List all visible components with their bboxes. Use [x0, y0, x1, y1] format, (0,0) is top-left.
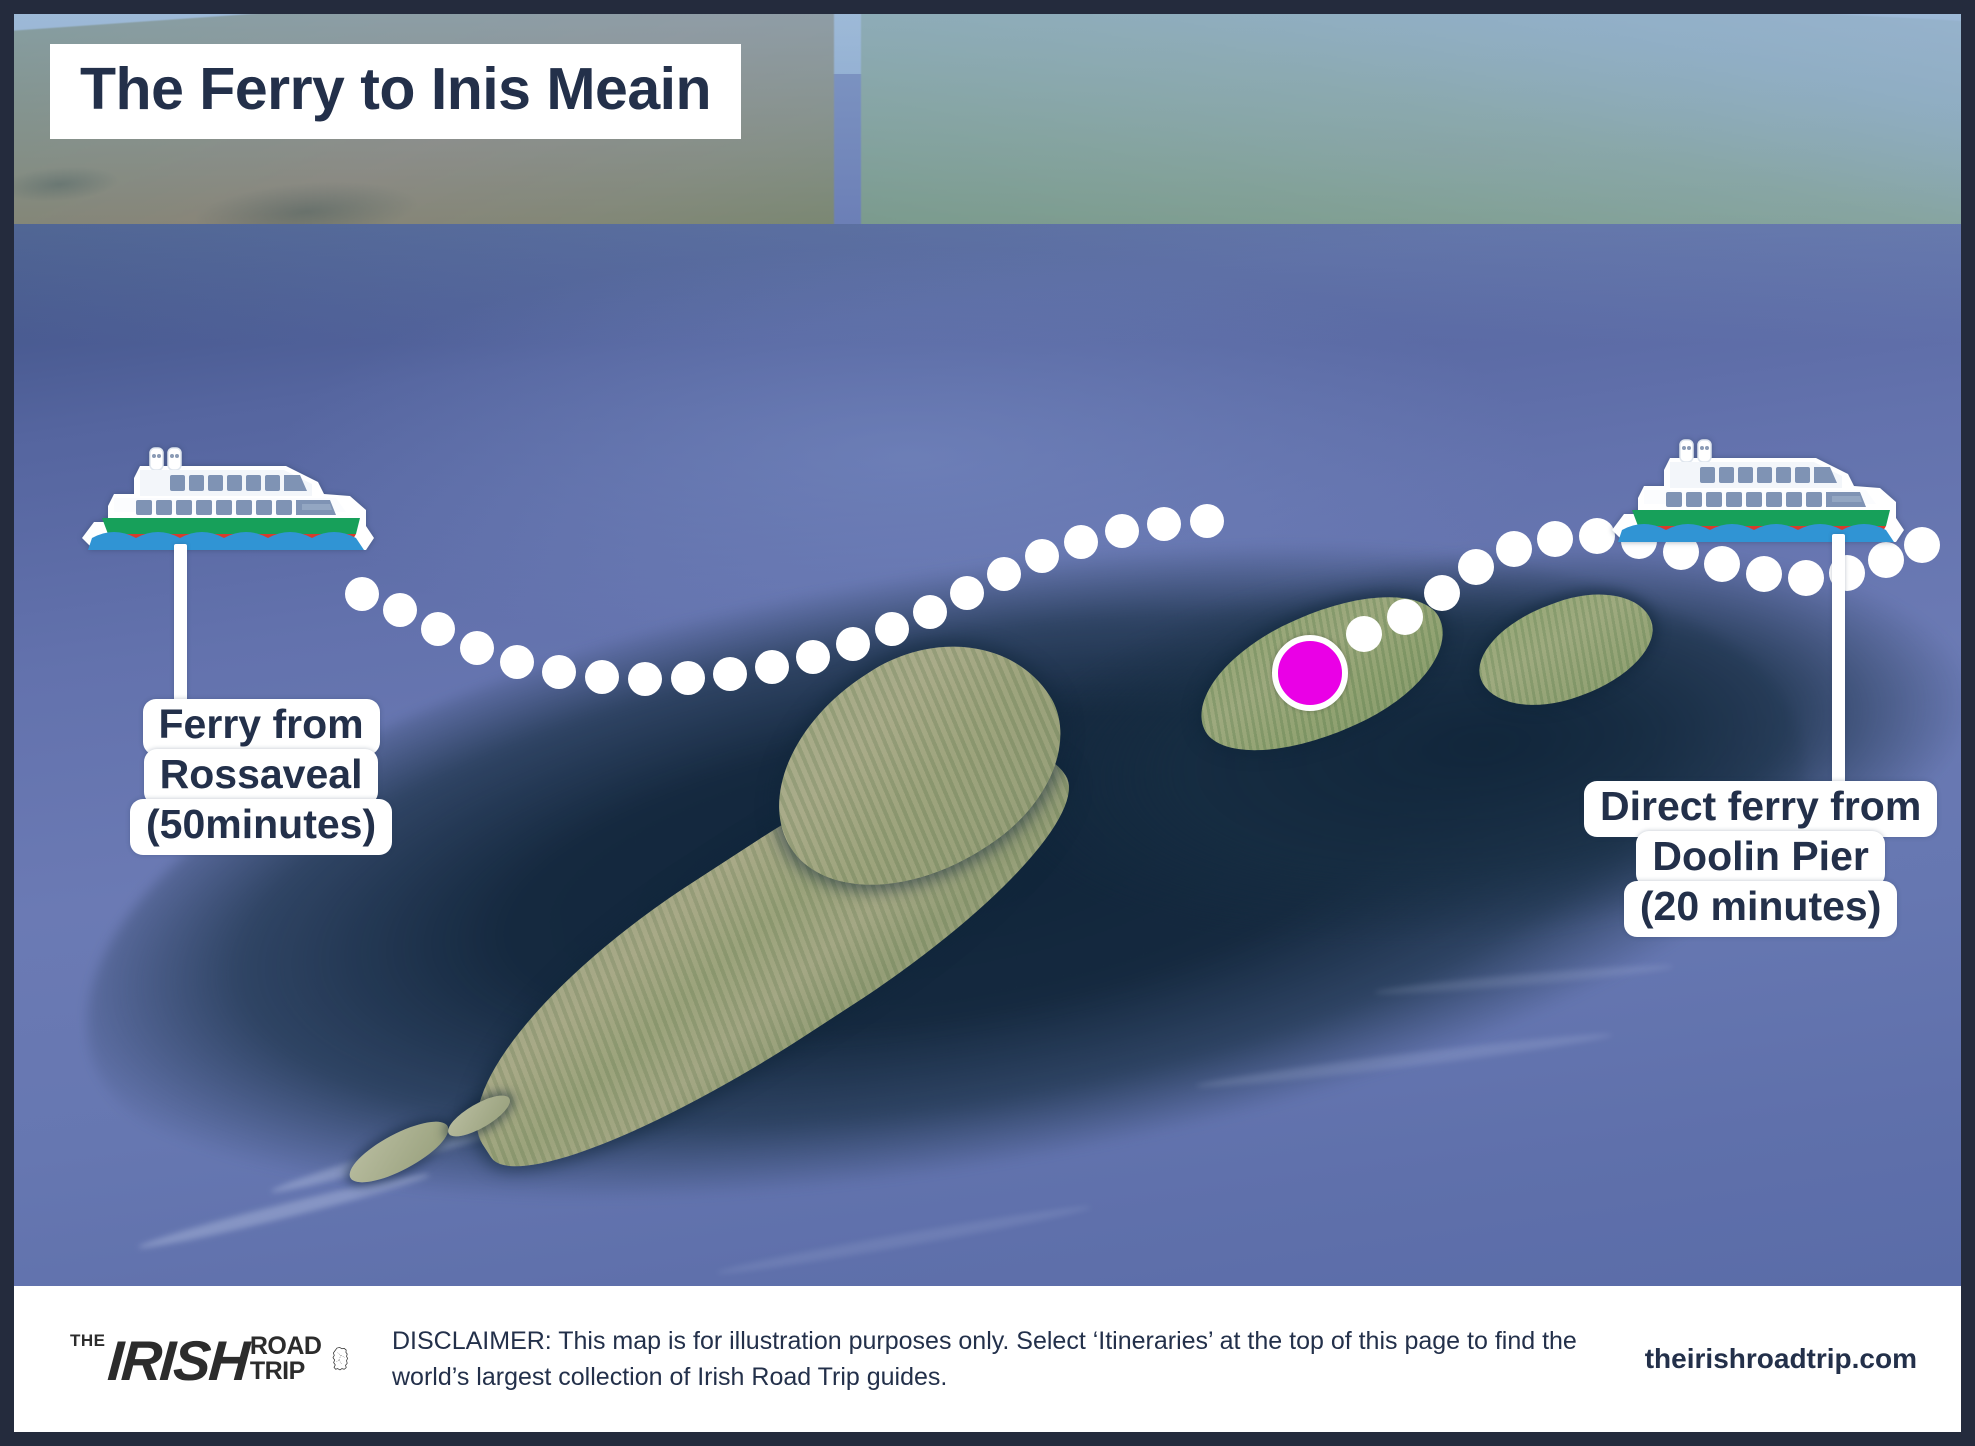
callout-doolin[interactable]: Direct ferry from Doolin Pier (20 minute… — [1584, 784, 1937, 934]
ferry-icon-rossaveal[interactable] — [74, 434, 374, 564]
ireland-map-icon — [331, 1322, 350, 1396]
callout-line: Rossaveal — [144, 749, 379, 805]
logo-road-text: ROAD — [250, 1334, 322, 1360]
ferry-label-connector-right — [1832, 534, 1845, 794]
logo-trip-text: TRIP — [250, 1359, 322, 1385]
website-url[interactable]: theirishroadtrip.com — [1645, 1343, 1917, 1375]
callout-rossaveal[interactable]: Ferry from Rossaveal (50minutes) — [130, 702, 392, 852]
logo-wordmark: THE IRISH ROAD TRIP — [70, 1332, 321, 1387]
irish-road-trip-logo[interactable]: THE IRISH ROAD TRIP — [70, 1322, 350, 1396]
ferry-label-connector-left — [174, 544, 187, 724]
callout-line: (20 minutes) — [1624, 881, 1898, 937]
callout-line: (50minutes) — [130, 799, 392, 855]
ferry-icon-doolin[interactable] — [1604, 426, 1904, 556]
callout-line: Direct ferry from — [1584, 781, 1937, 837]
poster-frame: The Ferry to Inis Meain Ferry from Rossa… — [0, 0, 1975, 1446]
logo-irish-text: IRISH — [106, 1335, 249, 1387]
logo-the-text: THE — [70, 1332, 106, 1349]
map-canvas[interactable]: The Ferry to Inis Meain Ferry from Rossa… — [14, 14, 1961, 1286]
callout-line: Ferry from — [143, 699, 380, 755]
logo-roadtrip-text: ROAD TRIP — [250, 1334, 322, 1385]
destination-marker-inis-meain[interactable] — [1272, 635, 1348, 711]
callout-line: Doolin Pier — [1636, 831, 1884, 887]
title-banner: The Ferry to Inis Meain — [50, 44, 741, 139]
disclaimer-text: DISCLAIMER: This map is for illustration… — [350, 1323, 1645, 1396]
footer-bar: THE IRISH ROAD TRIP DISCLAIMER: This map… — [14, 1286, 1961, 1432]
page-title: The Ferry to Inis Meain — [80, 60, 711, 119]
